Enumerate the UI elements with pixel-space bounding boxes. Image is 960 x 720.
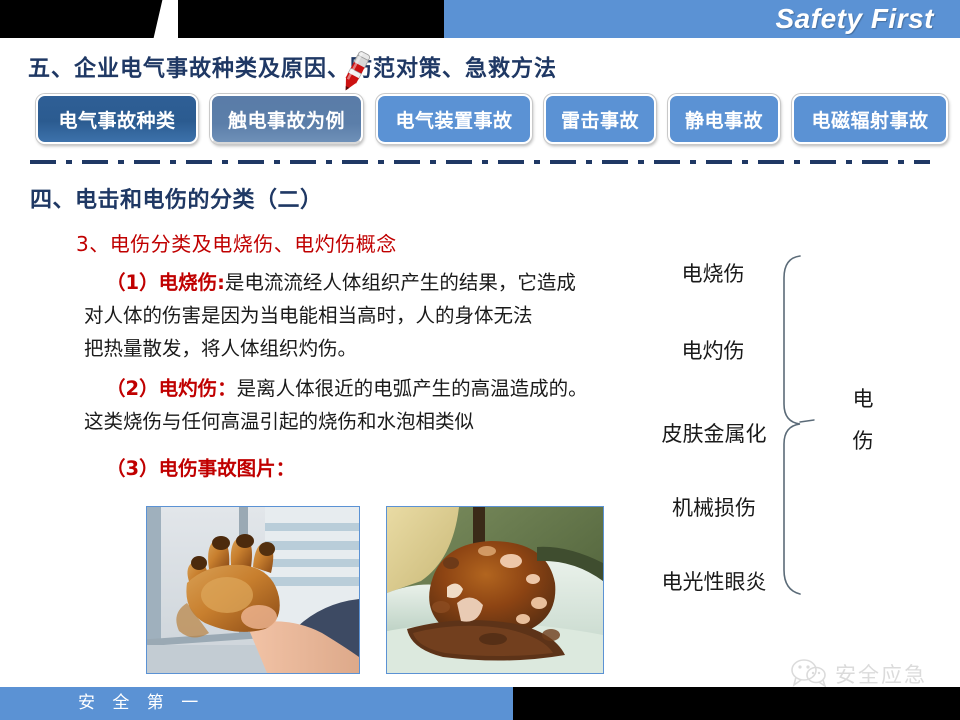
brace-result-line: 电 [848, 378, 878, 420]
wechat-logo-icon [790, 657, 830, 691]
paragraph-line: 这类烧伤与任何高温引起的烧伤和水泡相类似 [84, 405, 644, 438]
brace-item-jixie-sunshang: 机械损伤 [658, 492, 770, 522]
section-title: 五、企业电气事故种类及原因、防范对策、急救方法 [28, 50, 557, 83]
header-black-bar-left [0, 0, 165, 38]
paragraph-text: 是电流流经人体组织产生的结果，它造成 [225, 271, 576, 294]
footer-text: 安 全 第 一 [78, 687, 204, 720]
dash-dot-divider [30, 160, 930, 164]
tab-leiji-shigu[interactable]: 雷击事故 [544, 94, 656, 144]
slide-footer: 安 全 第 一 [0, 687, 960, 720]
paragraph-lead: （1）电烧伤: [106, 271, 225, 294]
page-title: 四、电击和电伤的分类（二） [30, 182, 323, 214]
paragraph-electric-burn: （1）电烧伤:是电流流经人体组织产生的结果，它造成 对人体的伤害是因为当电能相当… [84, 266, 644, 365]
tab-chudian-shigu-weili[interactable]: 触电事故为例 [210, 94, 363, 144]
brand-title: Safety First [776, 1, 935, 37]
brace-item-dianguangxing-yanyan: 电光性眼炎 [656, 566, 772, 596]
paragraph-lead: （2）电灼伤： [106, 377, 237, 400]
tab-dianqi-shigu-zhonglei[interactable]: 电气事故种类 [36, 94, 198, 144]
slide-canvas: Safety First 五、企业电气事故种类及原因、防范对策、急救方法 电气事… [0, 0, 960, 720]
brace-result-line: 伤 [848, 420, 878, 462]
paragraph-line: 把热量散发，将人体组织灼伤。 [84, 332, 644, 365]
footer-black-bar [513, 687, 960, 720]
tab-dianci-fushe-shigu[interactable]: 电磁辐射事故 [792, 94, 948, 144]
brace-item-pifu-jinshuhua: 皮肤金属化 [656, 418, 772, 448]
paragraph-text: 把热量散发，将人体组织灼伤。 [84, 337, 357, 360]
watermark-text: 安全应急 [835, 659, 927, 689]
paragraph-photos-label: （3）电伤事故图片： [84, 452, 644, 485]
brace-item-dianzhuoshang: 电灼伤 [660, 335, 766, 365]
brace-item-dianshaoshang: 电烧伤 [660, 258, 766, 288]
red-pen-icon [336, 48, 376, 94]
photo-electrical-burn-hand [146, 506, 360, 674]
paragraph-text: 是离人体很近的电弧产生的高温造成的。 [237, 377, 588, 400]
header-black-bar-right [178, 0, 444, 38]
tab-jingdian-shigu[interactable]: 静电事故 [668, 94, 780, 144]
paragraph-text: 这类烧伤与任何高温引起的烧伤和水泡相类似 [84, 410, 474, 433]
paragraph-text: 对人体的伤害是因为当电能相当高时，人的身体无法 [84, 304, 533, 327]
curly-brace-icon [770, 250, 840, 600]
paragraph-line: （1）电烧伤:是电流流经人体组织产生的结果，它造成 [84, 266, 644, 299]
paragraph-line: （2）电灼伤：是离人体很近的电弧产生的高温造成的。 [84, 372, 644, 405]
paragraph-line: （3）电伤事故图片： [84, 452, 644, 485]
tab-dianqi-zhuangzhi-shigu[interactable]: 电气装置事故 [376, 94, 532, 144]
slide-header: Safety First [0, 0, 960, 38]
paragraph-line: 对人体的伤害是因为当电能相当高时，人的身体无法 [84, 299, 644, 332]
page-subtitle: 3、电伤分类及电烧伤、电灼伤概念 [76, 228, 397, 257]
paragraph-arc-burn: （2）电灼伤：是离人体很近的电弧产生的高温造成的。 这类烧伤与任何高温引起的烧伤… [84, 372, 644, 438]
brace-result-label: 电 伤 [848, 378, 878, 462]
photo-electrical-burn-body [386, 506, 604, 674]
paragraph-lead: （3）电伤事故图片： [106, 457, 295, 480]
footer-blue-bar [0, 687, 513, 720]
